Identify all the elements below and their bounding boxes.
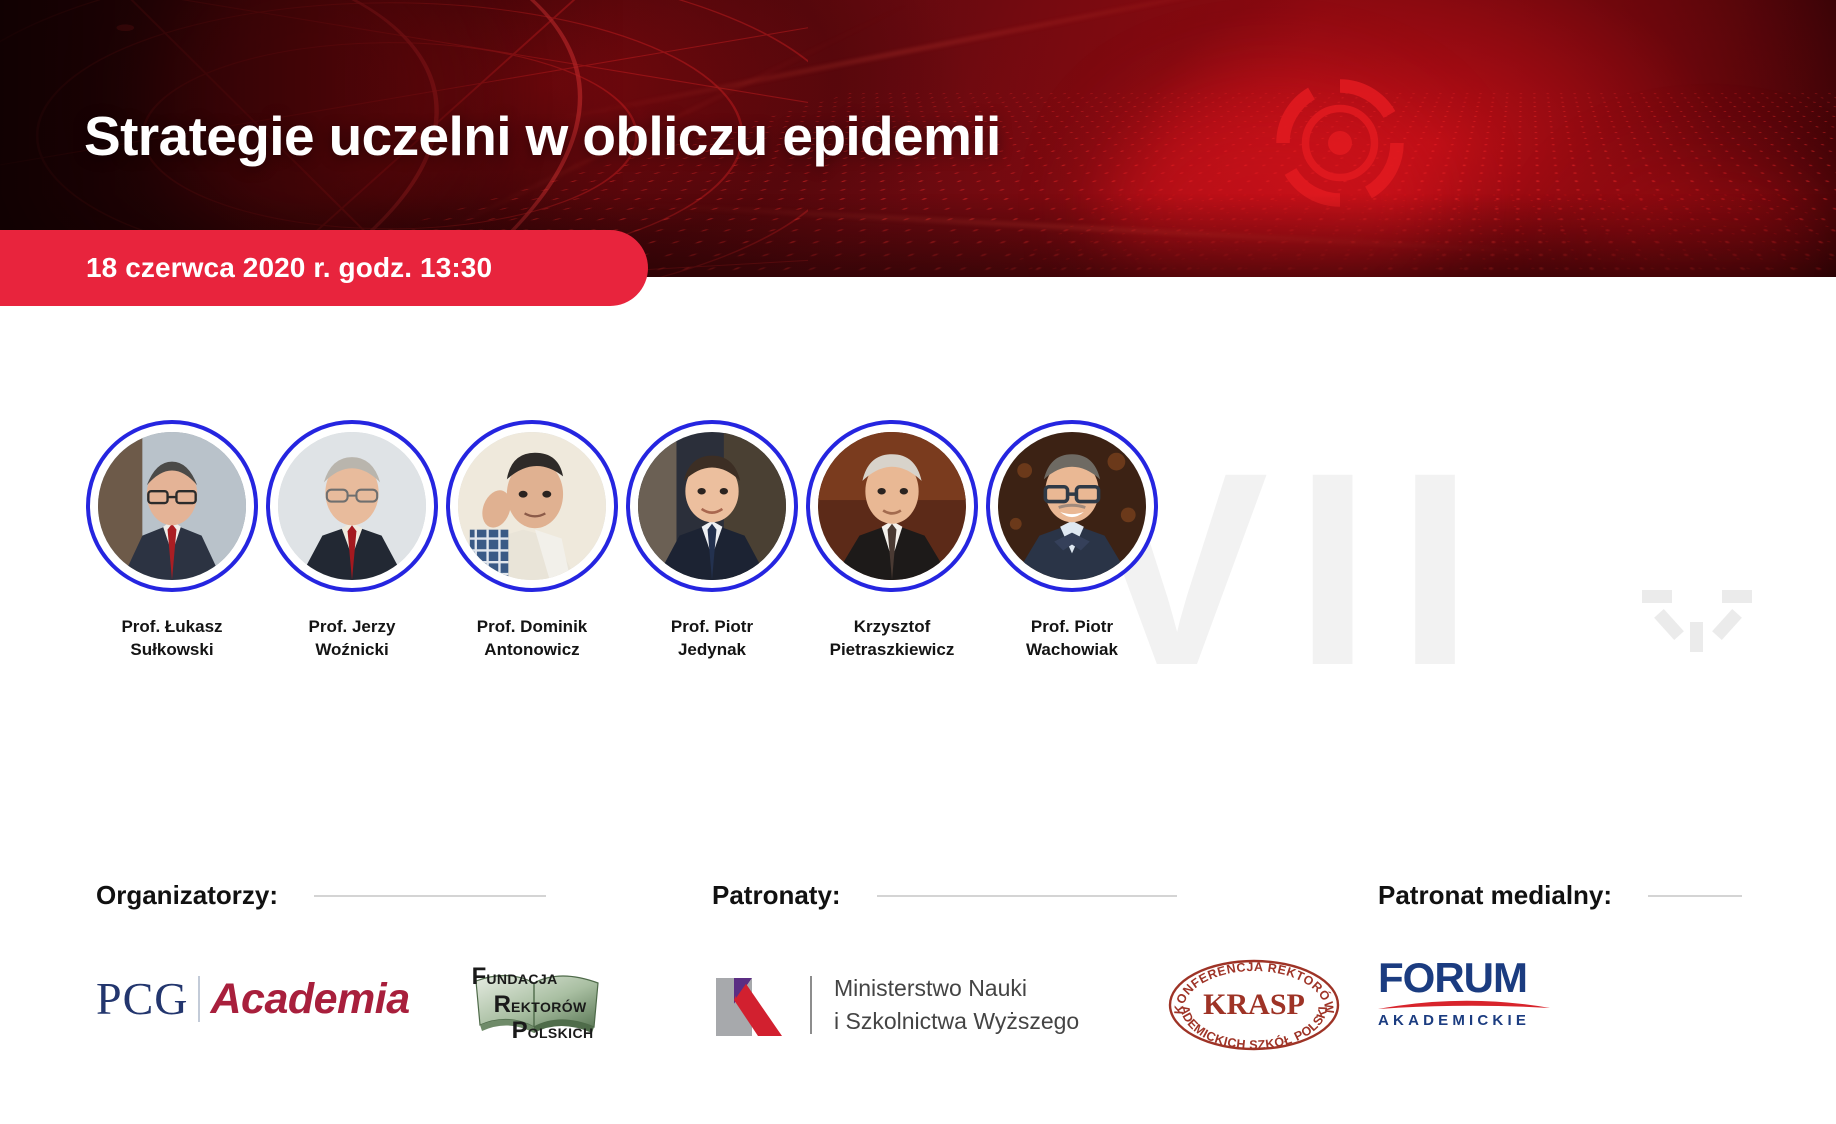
akademickie-wordmark: AKADEMICKIE [1378,1012,1550,1029]
organizer-logos: PCG Academia [96,957,606,1041]
section-title: Patronat medialny: [1378,880,1612,911]
avatar-ring [626,420,798,592]
frp-line1-rest: UNDACJA [486,972,557,986]
event-date-text: 18 czerwca 2020 r. godz. 13:30 [86,252,492,284]
forum-wordmark: FORUM [1378,957,1550,999]
avatar [458,432,606,580]
page-title: Strategie uczelni w obliczu epidemii [84,108,1001,166]
section-title: Patronaty: [712,880,841,911]
speaker-name: Prof. Jerzy Woźnicki [309,616,396,662]
frp-line2-cap: R [494,993,511,1017]
forum-swoosh-icon [1378,997,1550,1011]
avatar-ring [806,420,978,592]
section-header: Patronaty: [712,880,1341,911]
forum-akademickie-logo: FORUM AKADEMICKIE [1378,957,1550,1023]
avatar [278,432,426,580]
section-title: Organizatorzy: [96,880,278,911]
avatar [638,432,786,580]
section-header: Organizatorzy: [96,880,606,911]
speaker-name: Prof. Dominik Antonowicz [477,616,588,662]
speakers-row: Prof. Łukasz Sułkowski [84,420,1264,662]
avatar [998,432,1146,580]
fundacja-rektorow-polskich-logo: FUNDACJA REKTORÓW POLSKICH [468,957,606,1041]
speaker-name: Prof. Łukasz Sułkowski [121,616,222,662]
section-divider [1648,895,1742,897]
event-poster: Strategie uczelni w obliczu epidemii 18 … [0,0,1836,1124]
speaker-card: Krzysztof Pietraszkiewicz [804,420,980,662]
speaker-card: Prof. Łukasz Sułkowski [84,420,260,662]
section-patronage: Patronaty: Ministerstwo [712,880,1341,1053]
frp-line3-cap: P [512,1019,528,1043]
frp-line1-cap: F [472,965,487,989]
pcg-wordmark: PCG [96,976,188,1022]
ministry-divider [810,976,812,1034]
pcg-academia-logo: PCG Academia [96,972,410,1026]
media-logos: FORUM AKADEMICKIE [1378,957,1742,1023]
krasp-center-text: KRASP [1203,988,1305,1021]
frp-wordmark: FUNDACJA REKTORÓW POLSKICH [468,957,606,1041]
speaker-card: Prof. Jerzy Woźnicki [264,420,440,662]
section-organizers: Organizatorzy: PCG Academia [96,880,606,1041]
speaker-card: Prof. Dominik Antonowicz [444,420,620,662]
avatar-ring [86,420,258,592]
frp-line2-rest: EKTORÓW [511,1000,587,1014]
event-date-badge: 18 czerwca 2020 r. godz. 13:30 [0,230,648,306]
section-divider [314,895,546,897]
speaker-name: Krzysztof Pietraszkiewicz [830,616,955,662]
section-divider [877,895,1177,897]
academia-wordmark: Academia [210,978,409,1021]
speaker-name: Prof. Piotr Jedynak [671,616,753,662]
ministry-logo: Ministerstwo Nauki i Szkolnictwa Wyższeg… [712,972,1079,1037]
section-header: Patronat medialny: [1378,880,1742,911]
speaker-name: Prof. Piotr Wachowiak [1026,616,1118,662]
avatar-ring [266,420,438,592]
section-media-patronage: Patronat medialny: FORUM AKADEMICKIE [1378,880,1742,1023]
pcg-divider [198,976,200,1022]
avatar-ring [446,420,618,592]
frp-line3-rest: OLSKICH [528,1026,594,1040]
avatar [818,432,966,580]
avatar-ring [986,420,1158,592]
partners-area: Organizatorzy: PCG Academia [0,858,1836,1098]
ministry-n-mark-icon [712,974,786,1036]
speaker-card: Prof. Piotr Wachowiak [984,420,1160,662]
avatar [98,432,246,580]
speaker-card: Prof. Piotr Jedynak [624,420,800,662]
krasp-logo: KONFERENCJA REKTORÓW AKADEMICKICH SZKÓŁ … [1167,957,1341,1053]
ministry-wordmark: Ministerstwo Nauki i Szkolnictwa Wyższeg… [834,972,1079,1037]
sparkle-burst-icon [1630,556,1760,656]
patronage-logos: Ministerstwo Nauki i Szkolnictwa Wyższeg… [712,957,1341,1053]
